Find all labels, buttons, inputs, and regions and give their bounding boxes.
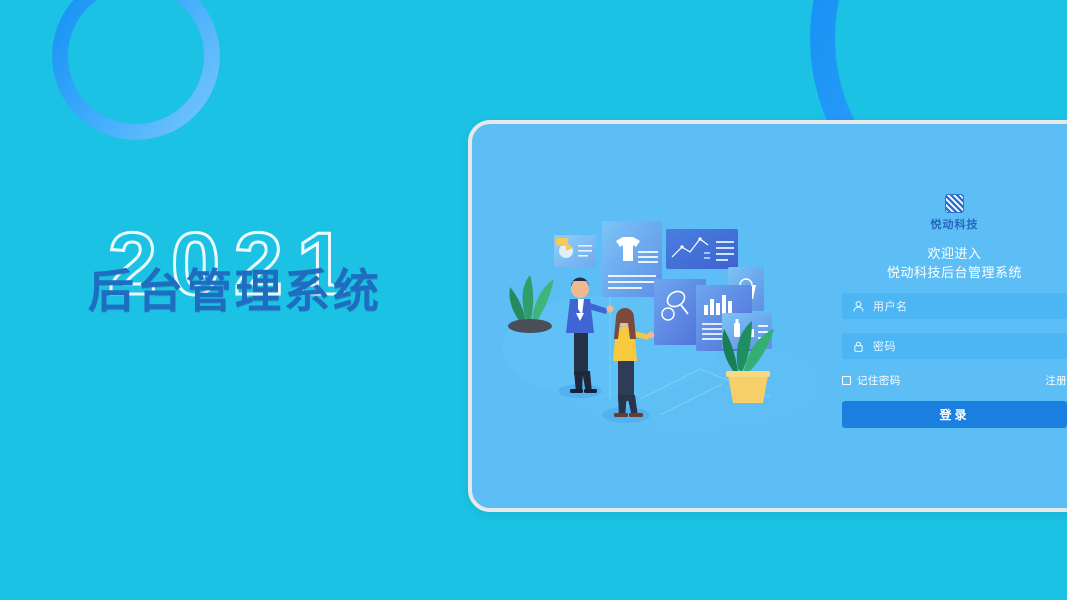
login-button[interactable]: 登录 [842, 401, 1067, 428]
isometric-dashboard-illustration [490, 219, 820, 434]
login-card: 悦动科技 欢迎进入 悦动科技后台管理系统 用户名 密码 [468, 120, 1067, 512]
striped-square-logo-icon [945, 194, 964, 213]
brand-block: 悦动科技 [842, 194, 1067, 232]
remember-password-label: 记住密码 [857, 373, 901, 388]
welcome-text: 欢迎进入 悦动科技后台管理系统 [842, 244, 1067, 282]
register-link[interactable]: 注册 [1045, 373, 1067, 388]
login-page: 2021 后台管理系统 [0, 0, 1067, 600]
password-field[interactable]: 密码 [842, 333, 1067, 359]
username-placeholder: 用户名 [873, 298, 908, 314]
remember-password-checkbox[interactable]: 记住密码 [842, 373, 901, 388]
form-options-row: 记住密码 注册 [842, 373, 1067, 388]
welcome-line-2: 悦动科技后台管理系统 [842, 263, 1067, 282]
checkbox-icon[interactable] [842, 376, 851, 385]
user-icon [852, 300, 865, 313]
brand-name: 悦动科技 [842, 216, 1067, 232]
username-field[interactable]: 用户名 [842, 293, 1067, 319]
hero-headline: 2021 后台管理系统 [88, 228, 508, 338]
page-title: 后台管理系统 [88, 268, 382, 314]
welcome-line-1: 欢迎进入 [842, 244, 1067, 263]
login-form: 悦动科技 欢迎进入 悦动科技后台管理系统 用户名 密码 [842, 194, 1067, 428]
password-placeholder: 密码 [873, 338, 896, 354]
lock-icon [852, 340, 865, 353]
